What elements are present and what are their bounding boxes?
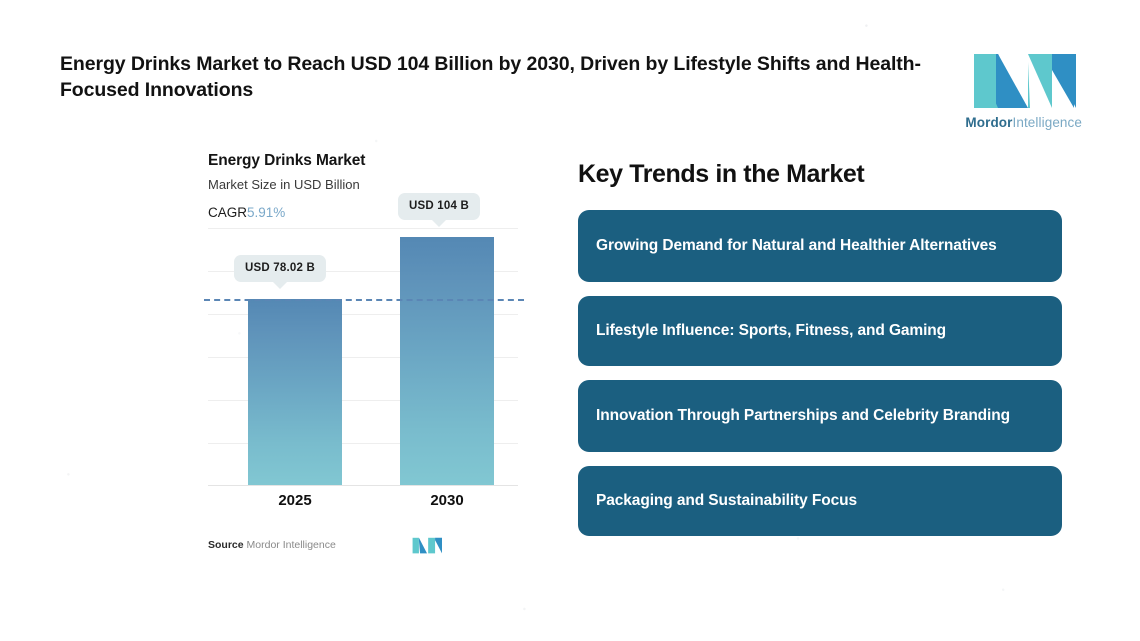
bar-chart-plot: USD 78.02 B USD 104 B (208, 228, 518, 486)
trend-card-label: Growing Demand for Natural and Healthier… (596, 236, 997, 257)
x-label-2025: 2025 (248, 492, 342, 509)
chart-title: Energy Drinks Market (208, 152, 518, 170)
page-title: Energy Drinks Market to Reach USD 104 Bi… (60, 52, 932, 103)
brand-logo: MordorIntelligence (965, 48, 1082, 130)
mordor-m-logo-icon (412, 536, 442, 554)
source-text: Source Mordor Intelligence (208, 539, 336, 551)
bar-2025[interactable] (248, 299, 342, 485)
brand-wordmark: MordorIntelligence (965, 115, 1082, 130)
cagr-label: CAGR (208, 205, 247, 220)
chart-subtitle: Market Size in USD Billion (208, 177, 518, 192)
source-label: Source (208, 539, 244, 551)
x-label-2030: 2030 (400, 492, 494, 509)
reference-dashed-line (204, 299, 524, 301)
source-name: Mordor Intelligence (247, 539, 336, 551)
trend-card-label: Innovation Through Partnerships and Cele… (596, 406, 1010, 427)
trend-card-4[interactable]: Packaging and Sustainability Focus (578, 466, 1062, 536)
key-trends-panel: Key Trends in the Market Growing Demand … (578, 160, 1062, 550)
brand-name-light: Intelligence (1013, 115, 1083, 130)
source-row: Source Mordor Intelligence (208, 536, 518, 554)
bar-2030[interactable] (400, 237, 494, 485)
x-axis-labels: 2025 2030 (208, 492, 518, 518)
cagr-value: 5.91% (247, 205, 285, 220)
bar-value-label-2030: USD 104 B (398, 193, 480, 220)
brand-name-bold: Mordor (965, 115, 1012, 130)
header: Energy Drinks Market to Reach USD 104 Bi… (60, 52, 1082, 130)
trend-card-label: Packaging and Sustainability Focus (596, 491, 857, 512)
trend-card-2[interactable]: Lifestyle Influence: Sports, Fitness, an… (578, 296, 1062, 366)
trend-card-label: Lifestyle Influence: Sports, Fitness, an… (596, 321, 946, 342)
bar-value-label-2025: USD 78.02 B (234, 255, 326, 282)
trend-card-3[interactable]: Innovation Through Partnerships and Cele… (578, 380, 1062, 452)
mordor-m-logo-icon (972, 48, 1076, 110)
trends-title: Key Trends in the Market (578, 160, 1062, 189)
trend-card-1[interactable]: Growing Demand for Natural and Healthier… (578, 210, 1062, 282)
x-axis-line (208, 485, 518, 486)
gridline (208, 228, 518, 229)
chart-panel: Energy Drinks Market Market Size in USD … (208, 152, 518, 554)
